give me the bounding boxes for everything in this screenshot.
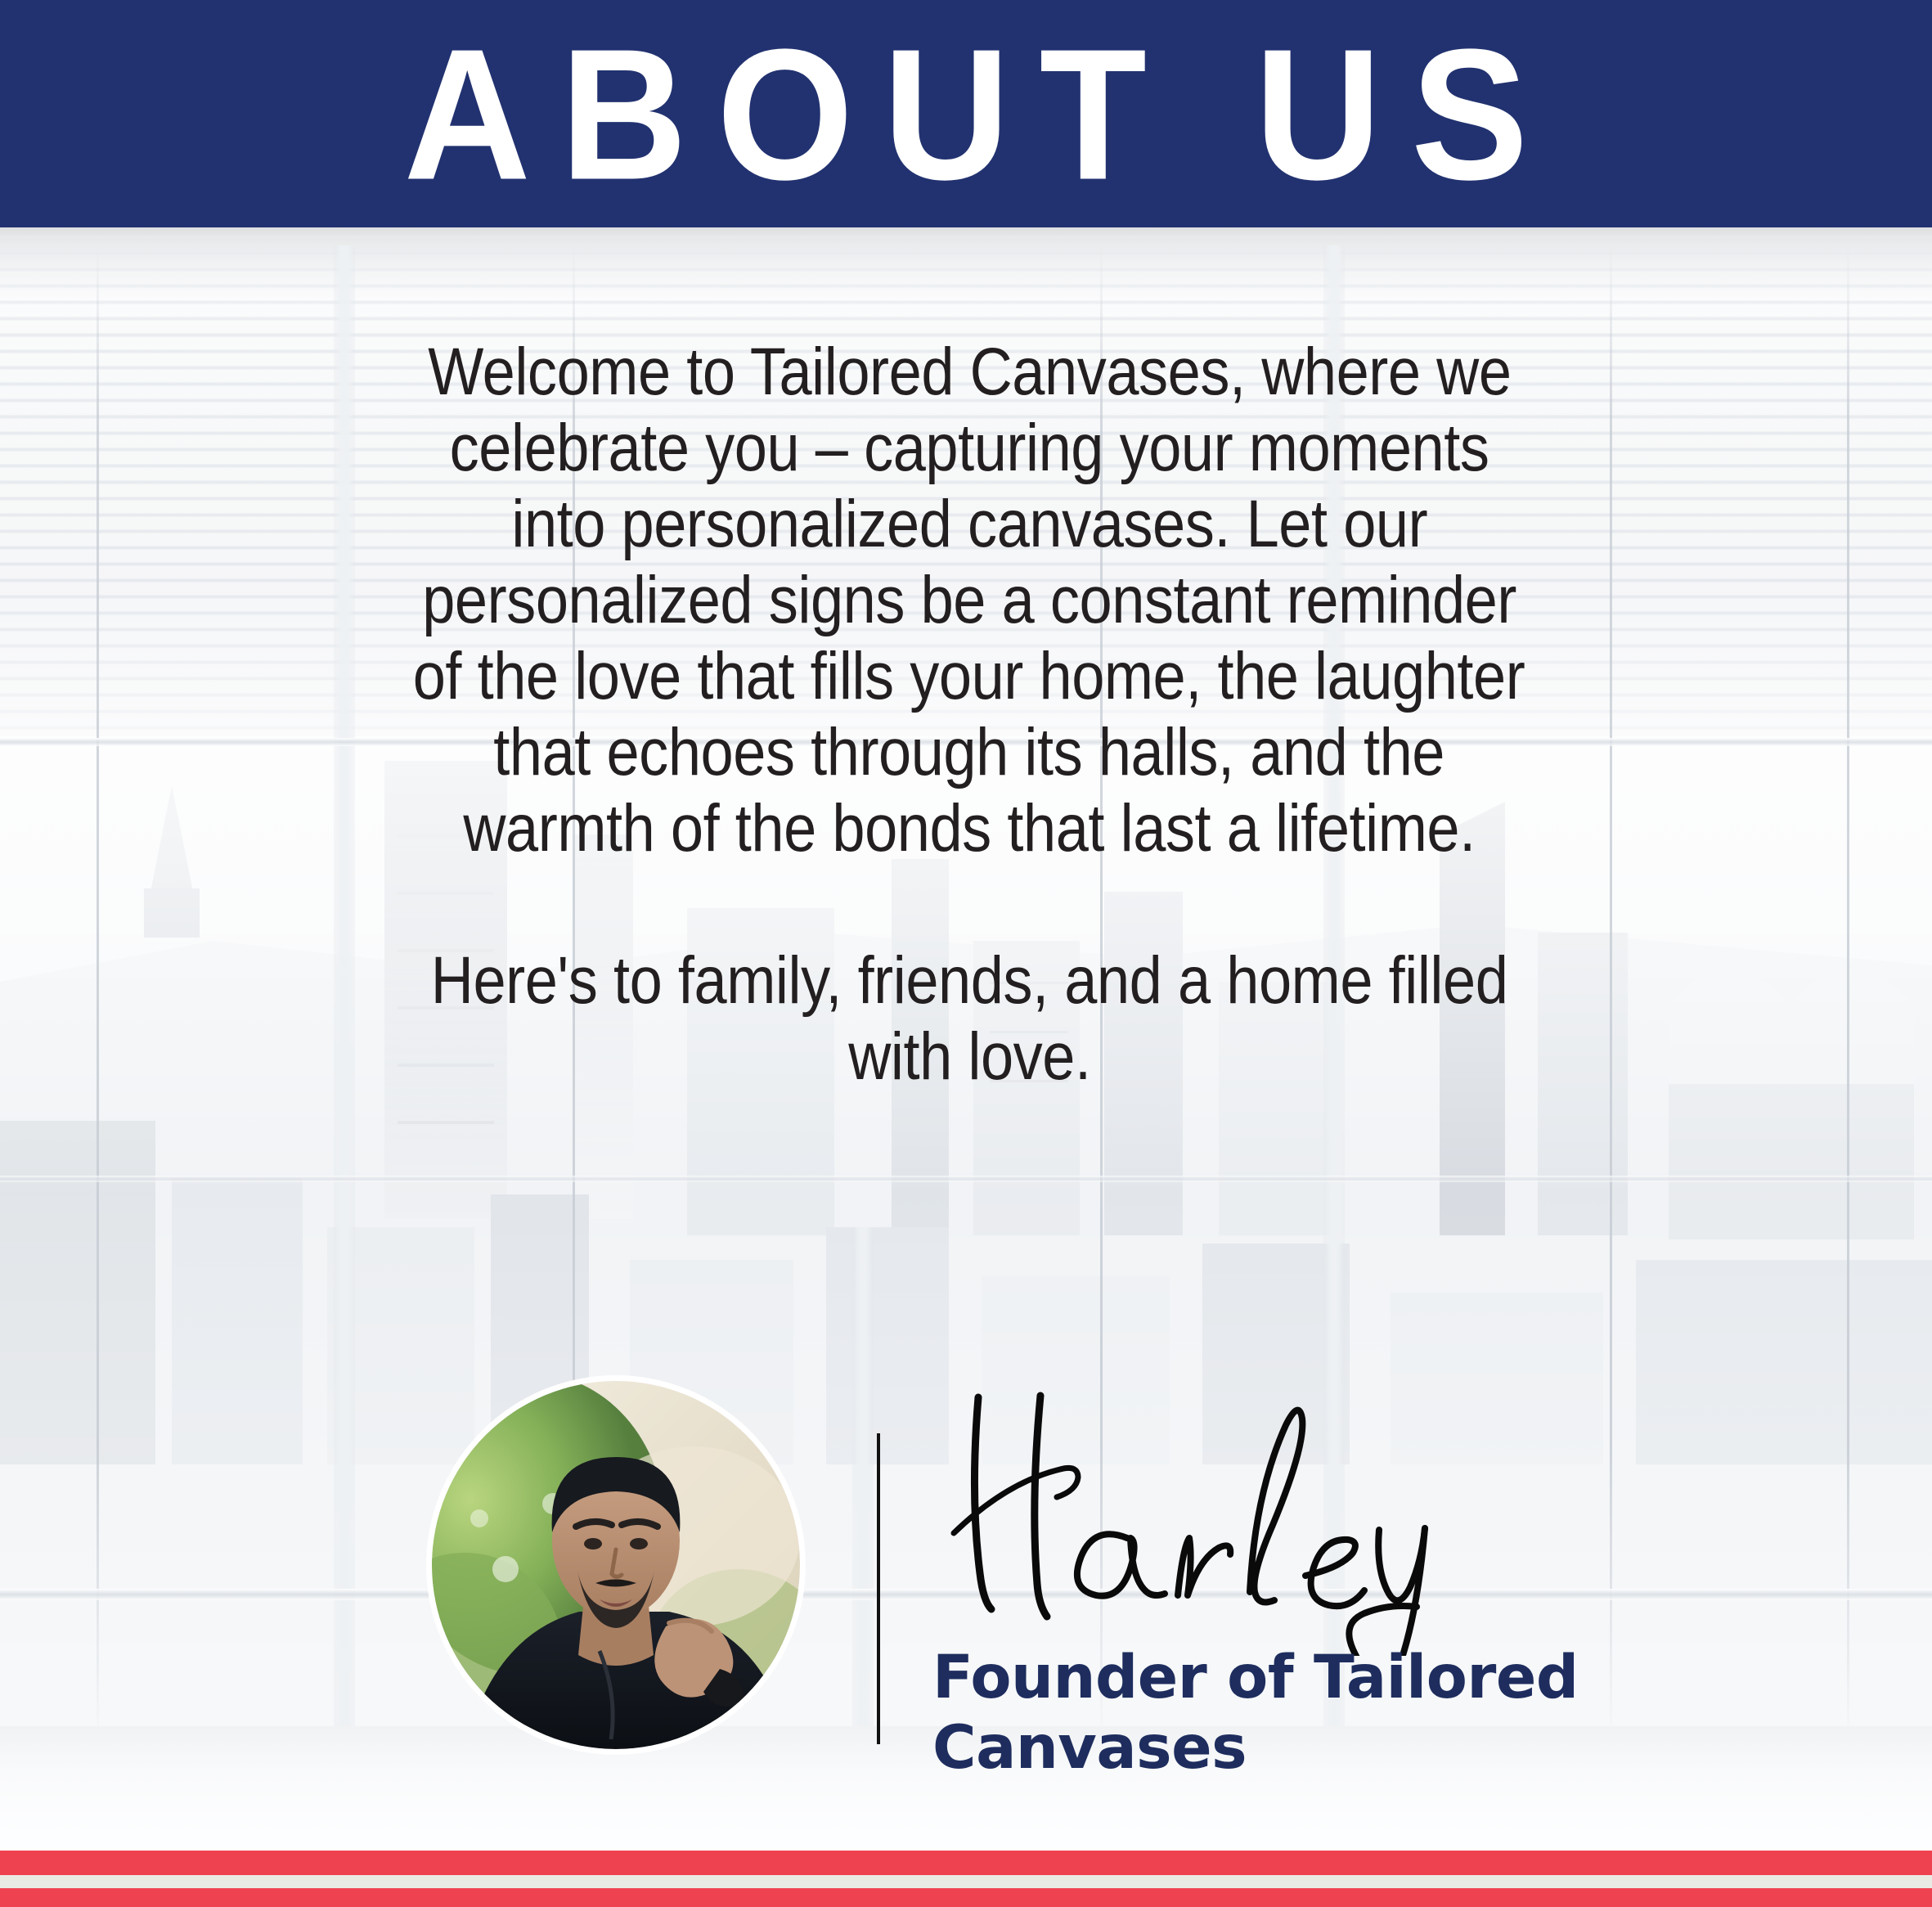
window-mullion: [97, 245, 99, 1743]
body-line-text: of the love that fills your home, the la…: [413, 638, 1525, 714]
founder-title: Founder of Tailored Canvases: [932, 1643, 1579, 1783]
header-band: ABOUT US: [0, 0, 1932, 227]
about-us-body: Welcome to Tailored Canvases, where we c…: [245, 334, 1693, 1095]
body-line-text: into personalized canvases. Let our: [511, 486, 1427, 562]
paragraph-spacer: [245, 866, 1693, 942]
paragraph-line: with love.: [245, 1019, 1693, 1095]
avatar: [432, 1381, 800, 1749]
window-mullion: [852, 1227, 874, 1743]
body-line-text: Welcome to Tailored Canvases, where we: [428, 334, 1511, 410]
body-line-text: that echoes through its halls, and the: [494, 714, 1445, 790]
body-line-text: with love.: [848, 1019, 1090, 1095]
body-line-text: personalized signs be a constant reminde…: [422, 562, 1516, 638]
paragraph-line: Here's to family, friends, and a home fi…: [245, 942, 1693, 1019]
accent-bar-top: [0, 1851, 1932, 1875]
paragraph-line: personalized signs be a constant reminde…: [245, 562, 1693, 638]
accent-bar-gap: [0, 1875, 1932, 1888]
body-line-text: celebrate you – capturing your moments: [450, 410, 1489, 486]
paragraph-line: Welcome to Tailored Canvases, where we: [245, 334, 1693, 410]
window-mullion: [1847, 245, 1849, 1743]
paragraph-line: of the love that fills your home, the la…: [245, 638, 1693, 714]
paragraph-line: that echoes through its halls, and the: [245, 714, 1693, 790]
signature-harley: [908, 1386, 1562, 1656]
page-title: ABOUT US: [375, 20, 1558, 207]
accent-bar-bottom: [0, 1888, 1932, 1907]
paragraph-line: celebrate you – capturing your moments: [245, 410, 1693, 486]
body-line-text: warmth of the bonds that last a lifetime…: [463, 790, 1475, 866]
paragraph-line: into personalized canvases. Let our: [245, 486, 1693, 562]
paragraph-line: warmth of the bonds that last a lifetime…: [245, 790, 1693, 866]
about-us-poster: ABOUT US Welcome to Tailored Canvases, w…: [0, 0, 1932, 1907]
signature-block: Founder of Tailored Canvases: [908, 1404, 1611, 1756]
window-sill: [0, 1176, 1932, 1182]
body-line-text: Here's to family, friends, and a home fi…: [431, 942, 1508, 1019]
vertical-divider: [877, 1433, 880, 1744]
